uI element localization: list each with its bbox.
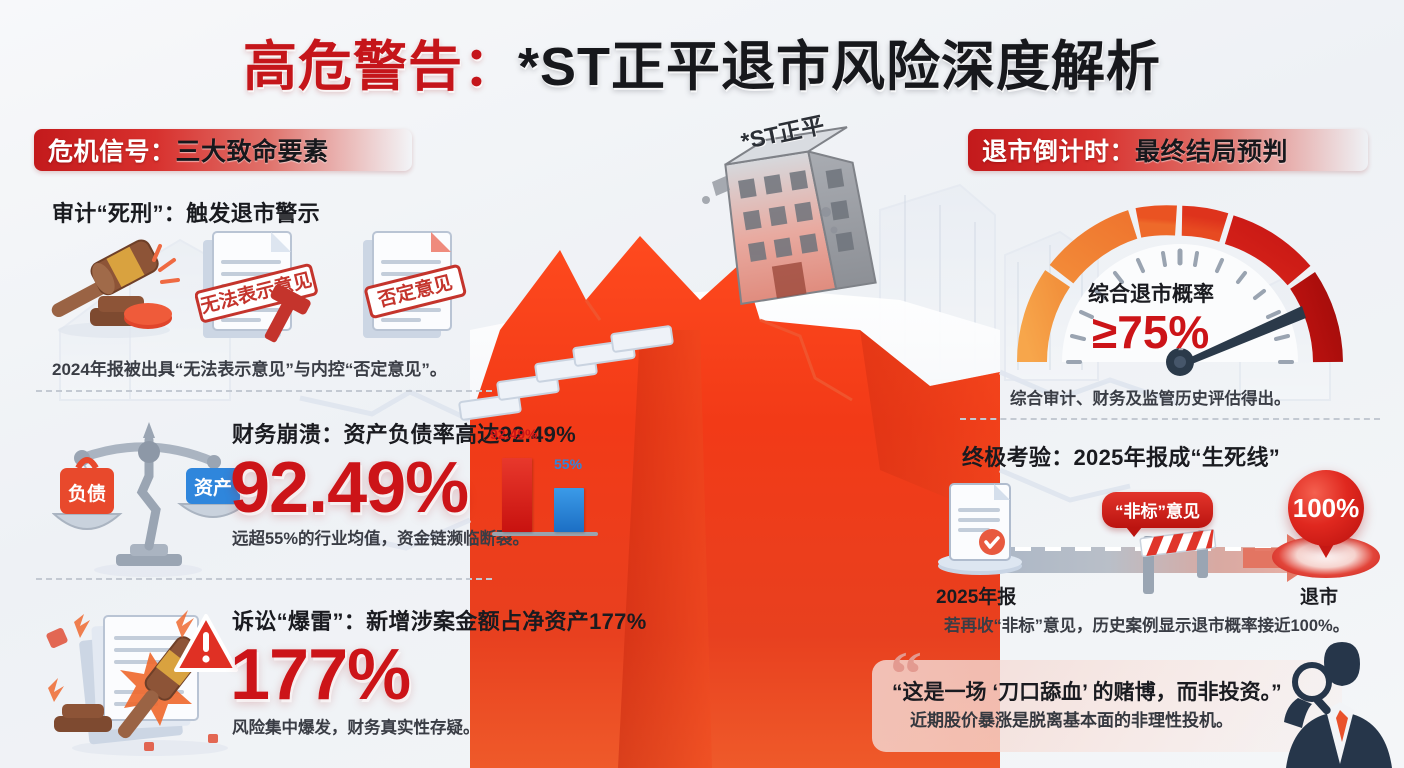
- divider-1: [36, 390, 492, 392]
- bar-company: [502, 458, 532, 532]
- right-banner-suffix: 最终结局预判: [1135, 132, 1288, 168]
- debt-ratio-value: 92.49%: [230, 447, 468, 529]
- left-banner-prefix: 危机信号：: [48, 132, 176, 168]
- divider-3: [960, 418, 1380, 420]
- quote-sub-text: 近期股价暴涨是脱离基本面的非理性投机。: [910, 706, 1233, 731]
- gauge-value: ≥75%: [1092, 305, 1209, 359]
- balance-scale-icon: 负债 资产: [52, 418, 242, 578]
- bar-label-industry: 55%: [554, 456, 582, 472]
- quote-main-text: “这是一场 ‘刀口舔血’ 的赌博，而非投资。”: [892, 676, 1282, 706]
- annual-report-document-icon: [932, 480, 1024, 576]
- left-banner-suffix: 三大致命要素: [176, 132, 329, 168]
- litigation-value: 177%: [230, 634, 410, 716]
- retirement-pin: 100%: [1288, 470, 1364, 546]
- litigation-headline: 诉讼“爆雷”：新增涉案金额占净资产177%: [232, 604, 647, 636]
- timeline-headline: 终极考验：2025年报成“生死线”: [962, 440, 1280, 472]
- document-stamp-icon-1: 无法表示意见: [195, 228, 323, 348]
- document-stamp-icon-2: 否定意见: [355, 228, 483, 348]
- businessman-magnifier-icon: [1268, 638, 1392, 768]
- financial-caption: 远超55%的行业均值，资金链濒临断裂。: [232, 525, 529, 549]
- page-title-red: 高危警告：: [243, 37, 518, 97]
- barrier-bubble-label: “非标”意见: [1102, 492, 1213, 528]
- gauge-caption: 综合审计、财务及监管历史评估得出。: [1010, 385, 1291, 409]
- gavel-documents-icon: [32, 596, 242, 758]
- divider-2: [36, 578, 492, 580]
- timeline-start-label: 2025年报: [936, 582, 1016, 609]
- left-section-banner: 危机信号： 三大致命要素: [34, 129, 412, 171]
- audit-caption: 2024年报被出具“无法表示意见”与内控“否定意见”。: [52, 355, 447, 380]
- bar-label-company: 92.49%: [490, 426, 537, 442]
- timeline-caption: 若再收“非标”意见，历史案例显示退市概率接近100%。: [944, 612, 1349, 636]
- litigation-caption: 风险集中爆发，财务真实性存疑。: [232, 714, 480, 738]
- infographic-canvas: 高危警告：*ST正平退市风险深度解析 危机信号： 三大致命要素 退市倒计时： 最…: [0, 0, 1404, 768]
- page-title-dark: *ST正平退市风险深度解析: [518, 37, 1161, 97]
- timeline-end-label: 退市: [1300, 582, 1338, 609]
- svg-text:负债: 负债: [68, 482, 106, 505]
- audit-headline: 审计“死刑”：触发退市警示: [52, 196, 320, 228]
- right-banner-prefix: 退市倒计时：: [982, 132, 1135, 168]
- building-label: *ST正平: [737, 106, 827, 157]
- gauge-title: 综合退市概率: [1088, 278, 1214, 308]
- bar-industry: [554, 488, 584, 532]
- gavel-icon: [42, 230, 182, 340]
- svg-text:资产: 资产: [194, 476, 232, 499]
- right-section-banner: 退市倒计时： 最终结局预判: [968, 129, 1368, 171]
- page-title: 高危警告：*ST正平退市风险深度解析: [0, 22, 1404, 101]
- debt-ratio-bar-chart: 92.49% 55%: [492, 444, 598, 536]
